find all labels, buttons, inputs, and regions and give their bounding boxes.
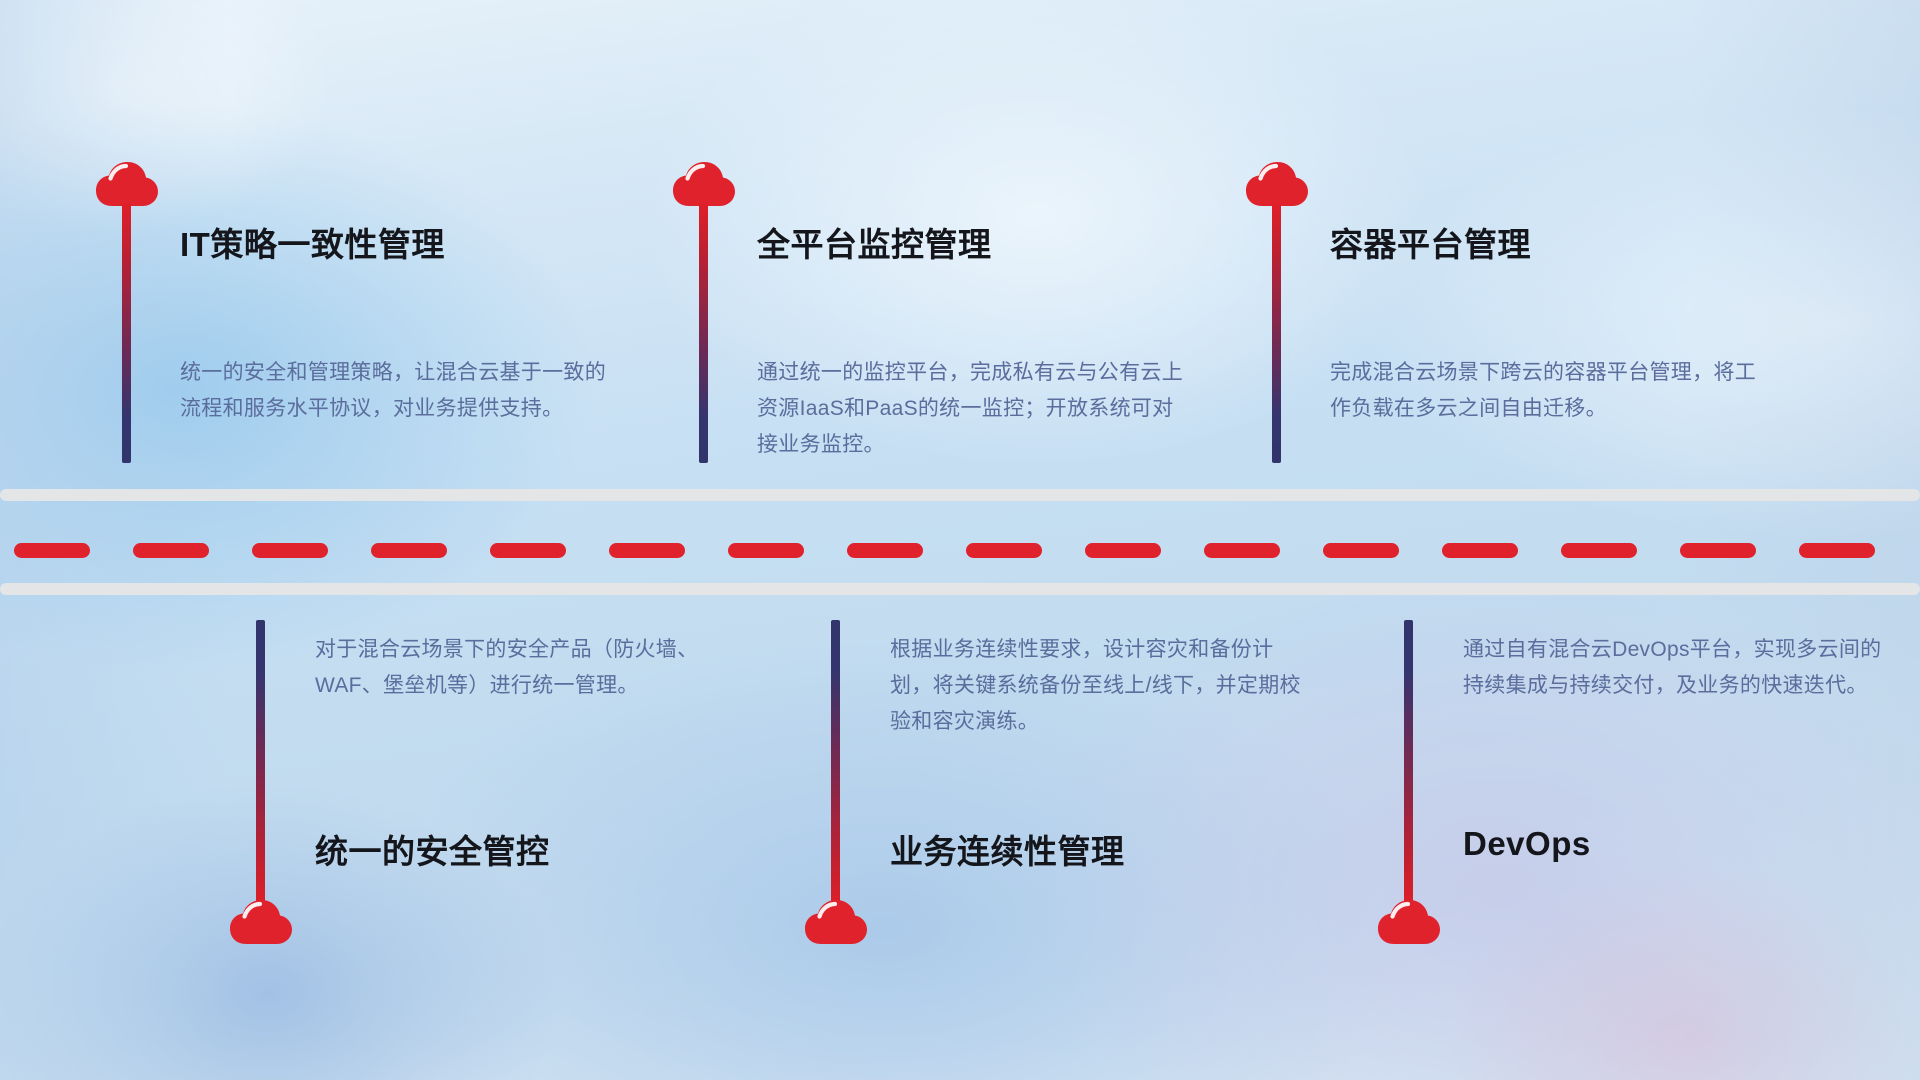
bottom-column-3-body: 通过自有混合云DevOps平台，实现多云间的持续集成与持续交付，及业务的快速迭代… xyxy=(1463,632,1883,704)
dash-segment xyxy=(1323,543,1399,558)
dash-segment xyxy=(1204,543,1280,558)
dash-segment xyxy=(133,543,209,558)
dash-segment xyxy=(14,543,90,558)
dash-segment xyxy=(1561,543,1637,558)
connector-stem xyxy=(1272,203,1281,463)
dash-segment xyxy=(966,543,1042,558)
dash-segment xyxy=(847,543,923,558)
top-column-1-title: IT策略一致性管理 xyxy=(180,218,445,266)
bottom-column-1-body: 对于混合云场景下的安全产品（防火墙、WAF、堡垒机等）进行统一管理。 xyxy=(315,632,735,704)
bottom-column-1-title: 统一的安全管控 xyxy=(315,825,550,873)
connector-stem xyxy=(699,203,708,463)
cloud-icon xyxy=(1244,160,1310,208)
cloud-icon xyxy=(671,160,737,208)
connector-stem xyxy=(256,620,265,910)
cloud-icon xyxy=(228,898,294,946)
infographic-canvas: IT策略一致性管理 统一的安全和管理策略，让混合云基于一致的流程和服务水平协议，… xyxy=(0,0,1920,1080)
bottom-solid-rule xyxy=(0,583,1920,595)
dash-segment xyxy=(728,543,804,558)
dash-segment xyxy=(252,543,328,558)
top-column-3-title: 容器平台管理 xyxy=(1330,218,1531,266)
top-column-3-body: 完成混合云场景下跨云的容器平台管理，将工作负载在多云之间自由迁移。 xyxy=(1330,355,1760,427)
dash-segment xyxy=(1799,543,1875,558)
top-solid-rule xyxy=(0,489,1920,501)
dash-segment xyxy=(1680,543,1756,558)
top-column-1-body: 统一的安全和管理策略，让混合云基于一致的流程和服务水平协议，对业务提供支持。 xyxy=(180,355,610,427)
bottom-column-2-title: 业务连续性管理 xyxy=(890,825,1125,873)
top-column-2-body: 通过统一的监控平台，完成私有云与公有云上资源IaaS和PaaS的统一监控；开放系… xyxy=(757,355,1189,463)
dash-segment xyxy=(1442,543,1518,558)
cloud-icon xyxy=(803,898,869,946)
dash-segment xyxy=(1085,543,1161,558)
cloud-icon xyxy=(94,160,160,208)
red-dashed-road-line xyxy=(0,542,1920,558)
cloud-icon xyxy=(1376,898,1442,946)
connector-stem xyxy=(831,620,840,910)
top-column-2-title: 全平台监控管理 xyxy=(757,218,992,266)
connector-stem xyxy=(1404,620,1413,910)
dash-segment xyxy=(609,543,685,558)
dash-segment xyxy=(490,543,566,558)
bottom-column-2-body: 根据业务连续性要求，设计容灾和备份计划，将关键系统备份至线上/线下，并定期校验和… xyxy=(890,632,1310,740)
dash-segment xyxy=(371,543,447,558)
bottom-column-3-title: DevOps xyxy=(1463,825,1591,863)
connector-stem xyxy=(122,203,131,463)
